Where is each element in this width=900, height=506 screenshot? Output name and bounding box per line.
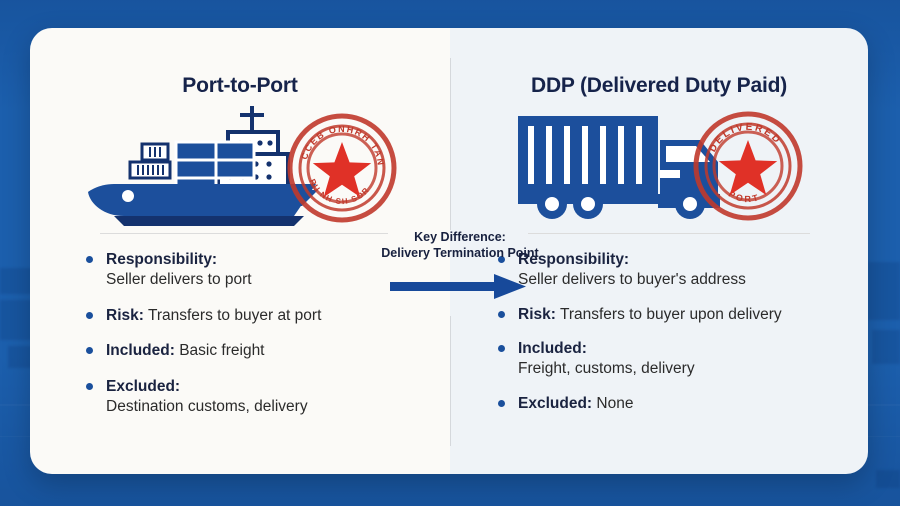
- bullet-label: Included:: [518, 340, 587, 357]
- slide-canvas: Port-to-Port: [0, 0, 900, 506]
- delivery-truck-artwork: DELIVERED PORT: [450, 100, 868, 226]
- bullet-text: Transfers to buyer at port: [148, 307, 321, 324]
- container-ship-icon: [88, 106, 318, 226]
- bullet-label: Excluded:: [518, 395, 592, 412]
- bullet-text: Transfers to buyer upon delivery: [560, 306, 782, 323]
- bullet-text: Basic freight: [179, 342, 264, 359]
- left-panel-title: Port-to-Port: [30, 74, 450, 98]
- container-ship-artwork: CCEB ONHRH TANGEARON RU NH SH SOR: [30, 100, 450, 226]
- delivery-truck-icon: [518, 116, 720, 219]
- key-difference-heading: Key Difference:: [365, 230, 555, 246]
- right-arrow-icon: [390, 271, 530, 301]
- bullet-text: Freight, customs, delivery: [518, 360, 695, 377]
- list-item: Included: Freight, customs, delivery: [496, 339, 850, 379]
- right-divider: [528, 233, 810, 234]
- column-divider-top: [450, 58, 451, 230]
- bullet-text: Seller delivers to port: [106, 271, 252, 288]
- list-item: Risk: Transfers to buyer upon delivery: [496, 305, 850, 325]
- bullet-label: Risk:: [106, 307, 144, 324]
- bullet-dot: [86, 383, 93, 390]
- left-divider: [100, 233, 388, 234]
- bullet-dot: [86, 256, 93, 263]
- bullet-dot: [86, 347, 93, 354]
- bullet-text: None: [596, 395, 633, 412]
- bullet-label: Included:: [106, 342, 175, 359]
- key-difference-subtext: Delivery Termination Point: [365, 246, 555, 262]
- arrow-container: [365, 271, 555, 301]
- bullet-text: Destination customs, delivery: [106, 398, 308, 415]
- list-item: Included: Basic freight: [84, 341, 424, 361]
- bullet-dot: [86, 312, 93, 319]
- key-difference-callout: Key Difference: Delivery Termination Poi…: [365, 230, 555, 301]
- bullet-label: Excluded:: [106, 378, 180, 395]
- list-item: Excluded: None: [496, 394, 850, 414]
- list-item: Risk: Transfers to buyer at port: [84, 306, 424, 326]
- list-item: Excluded: Destination customs, delivery: [84, 377, 424, 417]
- column-divider-bottom: [450, 316, 451, 446]
- bullet-dot: [498, 400, 505, 407]
- bullet-label: Risk:: [518, 306, 556, 323]
- bullet-dot: [498, 345, 505, 352]
- bullet-label: Responsibility:: [106, 251, 217, 268]
- bullet-dot: [498, 311, 505, 318]
- right-panel-title: DDP (Delivered Duty Paid): [450, 74, 868, 98]
